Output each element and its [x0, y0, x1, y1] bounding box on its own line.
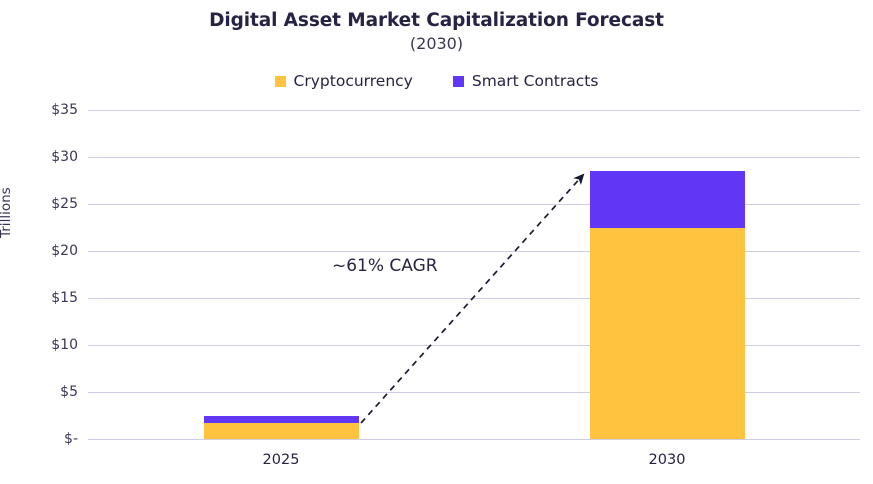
x-axis-tick-label: 2025 — [221, 452, 341, 468]
chart-subtitle: (2030) — [0, 33, 873, 54]
chart-container: Digital Asset Market Capitalization Fore… — [0, 0, 873, 484]
square-swatch-icon — [275, 76, 286, 87]
y-axis-tick-label: $- — [18, 432, 78, 446]
bar-segment-2025-cryptocurrency[interactable] — [204, 423, 359, 439]
bar-segment-2030-smart-contracts[interactable] — [590, 171, 745, 228]
chart-legend: Cryptocurrency Smart Contracts — [0, 72, 873, 90]
chart-title: Digital Asset Market Capitalization Fore… — [0, 10, 873, 32]
y-axis-tick-label: $35 — [18, 103, 78, 117]
square-swatch-icon — [453, 76, 464, 87]
title-block: Digital Asset Market Capitalization Fore… — [0, 10, 873, 54]
y-axis-tick-label: $30 — [18, 150, 78, 164]
y-axis-tick-label: $20 — [18, 244, 78, 258]
bar-segment-2025-smart-contracts[interactable] — [204, 416, 359, 423]
legend-label-smart-contracts: Smart Contracts — [472, 72, 599, 90]
gridline — [88, 439, 860, 440]
y-axis-tick-label: $5 — [18, 385, 78, 399]
y-axis-tick-label: $25 — [18, 197, 78, 211]
bar-segment-2030-cryptocurrency[interactable] — [590, 228, 745, 439]
y-axis-tick-label: $10 — [18, 338, 78, 352]
cagr-annotation-label: ~61% CAGR — [332, 256, 438, 276]
plot-area — [88, 110, 860, 439]
x-axis-tick-label: 2030 — [607, 452, 727, 468]
y-axis-tick-label: $15 — [18, 291, 78, 305]
y-axis-title: Trillions — [0, 187, 14, 238]
legend-item-smart-contracts[interactable]: Smart Contracts — [453, 72, 599, 90]
legend-item-cryptocurrency[interactable]: Cryptocurrency — [275, 72, 413, 90]
legend-label-cryptocurrency: Cryptocurrency — [294, 72, 413, 90]
bar-group-2030[interactable] — [590, 110, 745, 439]
